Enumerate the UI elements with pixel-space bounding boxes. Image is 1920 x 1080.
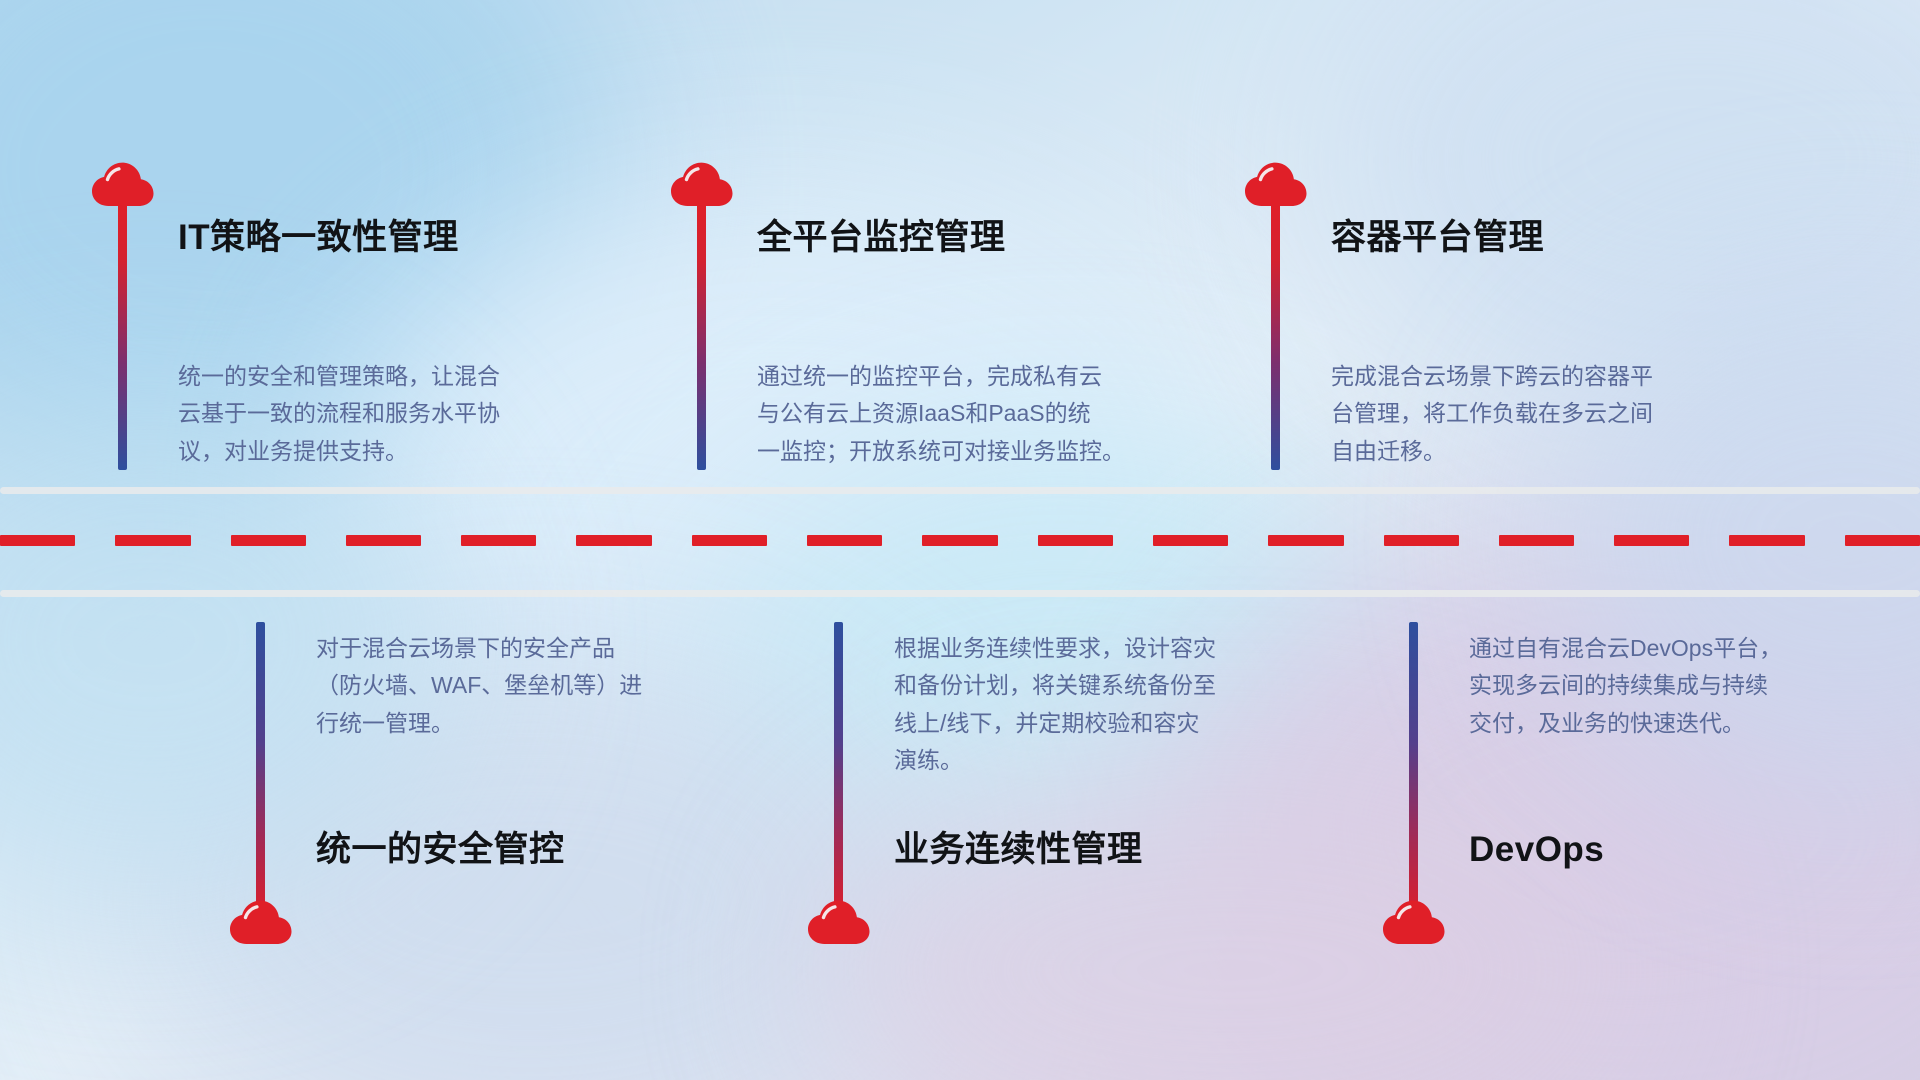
- background-blob: [820, 760, 1640, 1080]
- divider-dash: [115, 535, 190, 546]
- divider-dash: [1614, 535, 1689, 546]
- connector-stem: [1409, 622, 1418, 910]
- divider-dash: [1499, 535, 1574, 546]
- divider-dash: [1038, 535, 1113, 546]
- feature-title: IT策略一致性管理: [178, 220, 459, 255]
- cloud-pin-icon: [1381, 898, 1447, 946]
- divider-dash: [1729, 535, 1804, 546]
- divider-dash: [576, 535, 651, 546]
- feature-title: 全平台监控管理: [757, 220, 1006, 255]
- divider-dash: [1384, 535, 1459, 546]
- divider-dash: [1845, 535, 1920, 546]
- feature-title: 业务连续性管理: [894, 832, 1143, 867]
- divider-dash: [1268, 535, 1343, 546]
- infographic-canvas: IT策略一致性管理 统一的安全和管理策略，让混合 云基于一致的流程和服务水平协 …: [0, 0, 1920, 1080]
- center-divider: [0, 487, 1920, 597]
- divider-dash: [1153, 535, 1228, 546]
- cloud-pin-icon: [1243, 160, 1309, 208]
- divider-dash: [692, 535, 767, 546]
- connector-stem: [118, 202, 127, 470]
- cloud-pin-icon: [669, 160, 735, 208]
- feature-description: 对于混合云场景下的安全产品 （防火墙、WAF、堡垒机等）进 行统一管理。: [316, 630, 746, 742]
- feature-description: 通过统一的监控平台，完成私有云 与公有云上资源IaaS和PaaS的统 一监控；开…: [757, 358, 1197, 470]
- connector-stem: [697, 202, 706, 470]
- cloud-pin-icon: [806, 898, 872, 946]
- feature-description: 根据业务连续性要求，设计容灾 和备份计划，将关键系统备份至 线上/线下，并定期校…: [894, 630, 1324, 779]
- feature-description: 通过自有混合云DevOps平台， 实现多云间的持续集成与持续 交付，及业务的快速…: [1469, 630, 1899, 742]
- connector-stem: [256, 622, 265, 910]
- divider-dash: [346, 535, 421, 546]
- cloud-pin-icon: [228, 898, 294, 946]
- divider-dash: [0, 535, 75, 546]
- feature-title: DevOps: [1469, 832, 1604, 867]
- divider-dash: [807, 535, 882, 546]
- divider-line-top: [0, 487, 1920, 494]
- cloud-pin-icon: [90, 160, 156, 208]
- feature-description: 统一的安全和管理策略，让混合 云基于一致的流程和服务水平协 议，对业务提供支持。: [178, 358, 608, 470]
- connector-stem: [834, 622, 843, 910]
- feature-title: 容器平台管理: [1331, 220, 1544, 255]
- feature-description: 完成混合云场景下跨云的容器平 台管理，将工作负载在多云之间 自由迁移。: [1331, 358, 1761, 470]
- divider-dash: [461, 535, 536, 546]
- divider-line-bottom: [0, 590, 1920, 597]
- background-blob: [1180, 520, 1920, 1080]
- divider-dash: [231, 535, 306, 546]
- divider-dash: [922, 535, 997, 546]
- connector-stem: [1271, 202, 1280, 470]
- divider-dashed-line: [0, 535, 1920, 546]
- feature-title: 统一的安全管控: [316, 832, 565, 867]
